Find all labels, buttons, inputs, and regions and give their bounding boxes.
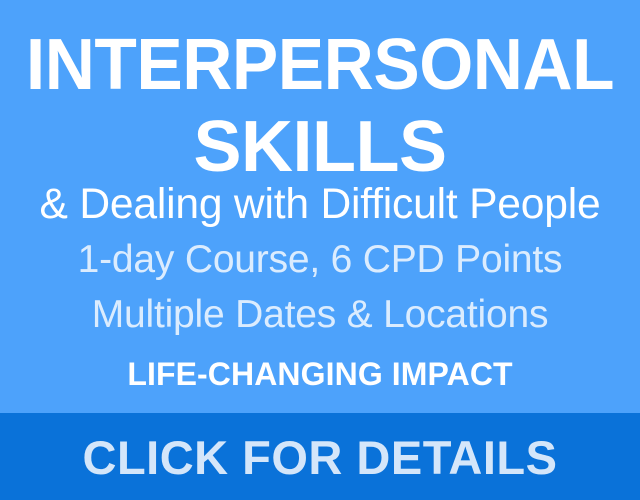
headline-subtitle: & Dealing with Difficult People [3, 183, 637, 226]
banner-content: INTERPERSONAL SKILLS & Dealing with Diff… [0, 0, 640, 413]
cta-button-label: CLICK FOR DETAILS [83, 434, 558, 481]
course-detail-availability: Multiple Dates & Locations [0, 295, 640, 334]
promo-banner[interactable]: INTERPERSONAL SKILLS & Dealing with Diff… [0, 0, 640, 500]
course-detail-duration: 1-day Course, 6 CPD Points [0, 240, 640, 279]
headline-primary-line2: SKILLS [0, 111, 640, 183]
cta-button[interactable]: CLICK FOR DETAILS [0, 413, 640, 500]
impact-statement: LIFE-CHANGING IMPACT [0, 358, 640, 390]
headline-primary-line1: INTERPERSONAL [11, 29, 629, 101]
